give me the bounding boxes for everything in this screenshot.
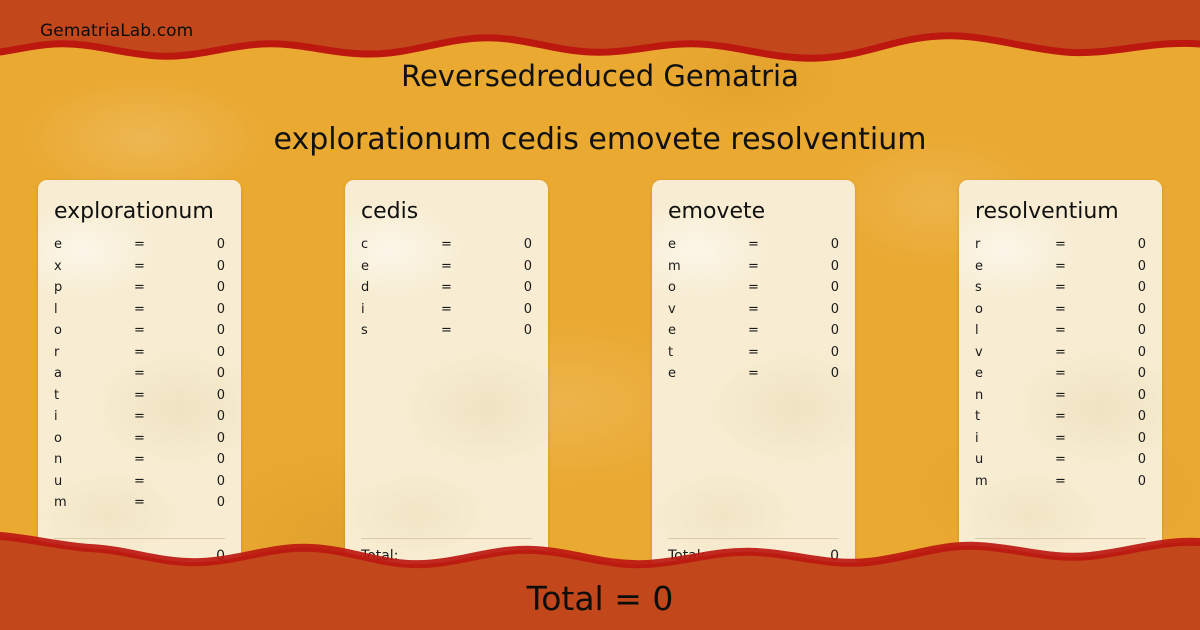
letter: e xyxy=(54,237,116,252)
equals-sign: = xyxy=(730,280,778,295)
letter-value: 0 xyxy=(1084,431,1146,446)
letter-value: 0 xyxy=(777,259,839,274)
letter: v xyxy=(975,345,1037,360)
letter-value: 0 xyxy=(163,431,225,446)
letter-value-row: i=0 xyxy=(361,299,532,321)
letter-value: 0 xyxy=(163,366,225,381)
equals-sign: = xyxy=(1037,323,1085,338)
letter-value: 0 xyxy=(1084,366,1146,381)
letter-value: 0 xyxy=(1084,388,1146,403)
letter-value-row: n=0 xyxy=(54,449,225,471)
letter: s xyxy=(975,280,1037,295)
letter-value-row: v=0 xyxy=(975,342,1146,364)
letter-value-row: i=0 xyxy=(54,406,225,428)
letter: t xyxy=(54,388,116,403)
letter-value-row: t=0 xyxy=(975,406,1146,428)
letter: v xyxy=(668,302,730,317)
letter: e xyxy=(975,259,1037,274)
letter-value-row: e=0 xyxy=(361,256,532,278)
letter: i xyxy=(361,302,423,317)
letter: p xyxy=(54,280,116,295)
equals-sign: = xyxy=(1037,280,1085,295)
letter-value: 0 xyxy=(163,452,225,467)
equals-sign: = xyxy=(1037,237,1085,252)
letter-value: 0 xyxy=(470,323,532,338)
equals-sign: = xyxy=(116,366,164,381)
letter-value-row: c=0 xyxy=(361,234,532,256)
equals-sign: = xyxy=(730,302,778,317)
letter-value-row: o=0 xyxy=(668,277,839,299)
equals-sign: = xyxy=(1037,388,1085,403)
card-word-title: emovete xyxy=(668,200,839,224)
letter-value-row: t=0 xyxy=(54,385,225,407)
letter-value: 0 xyxy=(163,474,225,489)
equals-sign: = xyxy=(116,474,164,489)
letter: d xyxy=(361,280,423,295)
letter-value-row: s=0 xyxy=(361,320,532,342)
equals-sign: = xyxy=(1037,431,1085,446)
letter-value-list: e=0x=0p=0l=0o=0r=0a=0t=0i=0o=0n=0u=0m=0 xyxy=(54,234,225,531)
word-cards-container: explorationume=0x=0p=0l=0o=0r=0a=0t=0i=0… xyxy=(38,180,1162,573)
card-total-value: 0 xyxy=(1137,548,1146,564)
letter-value: 0 xyxy=(1084,302,1146,317)
letter-value: 0 xyxy=(163,345,225,360)
equals-sign: = xyxy=(423,259,471,274)
letter: t xyxy=(668,345,730,360)
letter-value: 0 xyxy=(1084,259,1146,274)
equals-sign: = xyxy=(730,237,778,252)
letter-value: 0 xyxy=(1084,452,1146,467)
letter-value-row: v=0 xyxy=(668,299,839,321)
letter-value: 0 xyxy=(1084,237,1146,252)
letter-value-row: x=0 xyxy=(54,256,225,278)
site-name: GematriaLab.com xyxy=(40,21,193,41)
letter-value-row: e=0 xyxy=(668,234,839,256)
letter: m xyxy=(975,474,1037,489)
letter-value-row: i=0 xyxy=(975,428,1146,450)
letter-value-row: p=0 xyxy=(54,277,225,299)
letter-value: 0 xyxy=(163,302,225,317)
letter: u xyxy=(975,452,1037,467)
letter-value-row: l=0 xyxy=(54,299,225,321)
letter: o xyxy=(975,302,1037,317)
letter: o xyxy=(54,431,116,446)
card-word-title: explorationum xyxy=(54,200,225,224)
letter-value: 0 xyxy=(163,409,225,424)
letter: t xyxy=(975,409,1037,424)
page-subtitle: explorationum cedis emovete resolventium xyxy=(0,122,1200,157)
equals-sign: = xyxy=(730,345,778,360)
card-total-label: Total: xyxy=(975,548,1137,564)
equals-sign: = xyxy=(116,345,164,360)
letter-value-row: u=0 xyxy=(975,449,1146,471)
letter: n xyxy=(975,388,1037,403)
equals-sign: = xyxy=(1037,345,1085,360)
letter-value: 0 xyxy=(163,259,225,274)
letter-value: 0 xyxy=(777,345,839,360)
letter-value: 0 xyxy=(470,280,532,295)
letter: l xyxy=(54,302,116,317)
letter: u xyxy=(54,474,116,489)
letter-value: 0 xyxy=(163,280,225,295)
letter-value: 0 xyxy=(1084,345,1146,360)
letter: a xyxy=(54,366,116,381)
letter-value-row: o=0 xyxy=(54,428,225,450)
letter-value-row: m=0 xyxy=(975,471,1146,493)
equals-sign: = xyxy=(116,259,164,274)
letter-value-row: m=0 xyxy=(54,492,225,514)
letter: e xyxy=(668,323,730,338)
page-title: Reversedreduced Gematria xyxy=(0,59,1200,93)
letter-value: 0 xyxy=(777,323,839,338)
equals-sign: = xyxy=(1037,409,1085,424)
letter-value-row: e=0 xyxy=(975,363,1146,385)
letter-value-row: e=0 xyxy=(54,234,225,256)
letter-value-row: e=0 xyxy=(668,363,839,385)
letter: e xyxy=(668,237,730,252)
card-total-row: Total:0 xyxy=(975,539,1146,573)
gematria-result-card: GematriaLab.com Reversedreduced Gematria… xyxy=(0,0,1200,630)
letter-value: 0 xyxy=(470,302,532,317)
equals-sign: = xyxy=(116,323,164,338)
letter: l xyxy=(975,323,1037,338)
equals-sign: = xyxy=(1037,366,1085,381)
equals-sign: = xyxy=(1037,259,1085,274)
equals-sign: = xyxy=(1037,302,1085,317)
card-total-value: 0 xyxy=(523,548,532,564)
letter-value: 0 xyxy=(777,366,839,381)
equals-sign: = xyxy=(116,409,164,424)
letter-value: 0 xyxy=(163,388,225,403)
equals-sign: = xyxy=(730,323,778,338)
letter-value: 0 xyxy=(777,237,839,252)
equals-sign: = xyxy=(1037,474,1085,489)
equals-sign: = xyxy=(1037,452,1085,467)
letter-value-row: l=0 xyxy=(975,320,1146,342)
equals-sign: = xyxy=(116,452,164,467)
equals-sign: = xyxy=(423,323,471,338)
card-total-row: Total:0 xyxy=(54,539,225,573)
letter-value-list: c=0e=0d=0i=0s=0 xyxy=(361,234,532,531)
letter: e xyxy=(668,366,730,381)
card-total-label: Total: xyxy=(54,548,216,564)
letter-value-row: t=0 xyxy=(668,342,839,364)
letter-value-row: n=0 xyxy=(975,385,1146,407)
card-total-value: 0 xyxy=(830,548,839,564)
equals-sign: = xyxy=(116,495,164,510)
word-card: emovetee=0m=0o=0v=0e=0t=0e=0Total:0 xyxy=(652,180,855,573)
grand-total: Total = 0 xyxy=(0,579,1200,618)
word-card: explorationume=0x=0p=0l=0o=0r=0a=0t=0i=0… xyxy=(38,180,241,573)
letter-value-row: o=0 xyxy=(975,299,1146,321)
equals-sign: = xyxy=(423,280,471,295)
word-card: resolventiumr=0e=0s=0o=0l=0v=0e=0n=0t=0i… xyxy=(959,180,1162,573)
letter-value: 0 xyxy=(777,302,839,317)
letter-value: 0 xyxy=(163,495,225,510)
letter-value-row: e=0 xyxy=(975,256,1146,278)
word-card: cedisc=0e=0d=0i=0s=0Total:0 xyxy=(345,180,548,573)
letter-value: 0 xyxy=(470,259,532,274)
letter-value: 0 xyxy=(1084,474,1146,489)
letter-value: 0 xyxy=(163,323,225,338)
letter-value-list: r=0e=0s=0o=0l=0v=0e=0n=0t=0i=0u=0m=0 xyxy=(975,234,1146,531)
equals-sign: = xyxy=(423,237,471,252)
card-total-label: Total: xyxy=(668,548,830,564)
equals-sign: = xyxy=(116,280,164,295)
card-total-row: Total:0 xyxy=(668,539,839,573)
card-word-title: resolventium xyxy=(975,200,1146,224)
letter-value: 0 xyxy=(1084,323,1146,338)
letter: o xyxy=(668,280,730,295)
letter: r xyxy=(975,237,1037,252)
letter: e xyxy=(975,366,1037,381)
letter-value-row: e=0 xyxy=(668,320,839,342)
equals-sign: = xyxy=(116,388,164,403)
card-word-title: cedis xyxy=(361,200,532,224)
letter: o xyxy=(54,323,116,338)
equals-sign: = xyxy=(116,237,164,252)
letter-value-row: r=0 xyxy=(975,234,1146,256)
letter: x xyxy=(54,259,116,274)
card-total-value: 0 xyxy=(216,548,225,564)
letter: e xyxy=(361,259,423,274)
letter-value: 0 xyxy=(777,280,839,295)
letter: c xyxy=(361,237,423,252)
letter-value: 0 xyxy=(1084,280,1146,295)
letter-value-row: d=0 xyxy=(361,277,532,299)
letter-value-row: o=0 xyxy=(54,320,225,342)
letter-value-list: e=0m=0o=0v=0e=0t=0e=0 xyxy=(668,234,839,531)
letter-value-row: r=0 xyxy=(54,342,225,364)
letter-value: 0 xyxy=(1084,409,1146,424)
letter: s xyxy=(361,323,423,338)
equals-sign: = xyxy=(730,259,778,274)
letter-value: 0 xyxy=(163,237,225,252)
letter: i xyxy=(975,431,1037,446)
equals-sign: = xyxy=(116,431,164,446)
letter-value-row: a=0 xyxy=(54,363,225,385)
letter-value-row: m=0 xyxy=(668,256,839,278)
card-total-label: Total: xyxy=(361,548,523,564)
letter: n xyxy=(54,452,116,467)
letter: i xyxy=(54,409,116,424)
letter: m xyxy=(668,259,730,274)
letter-value-row: s=0 xyxy=(975,277,1146,299)
letter: m xyxy=(54,495,116,510)
letter: r xyxy=(54,345,116,360)
letter-value-row: u=0 xyxy=(54,471,225,493)
letter-value: 0 xyxy=(470,237,532,252)
equals-sign: = xyxy=(423,302,471,317)
card-total-row: Total:0 xyxy=(361,539,532,573)
equals-sign: = xyxy=(116,302,164,317)
equals-sign: = xyxy=(730,366,778,381)
